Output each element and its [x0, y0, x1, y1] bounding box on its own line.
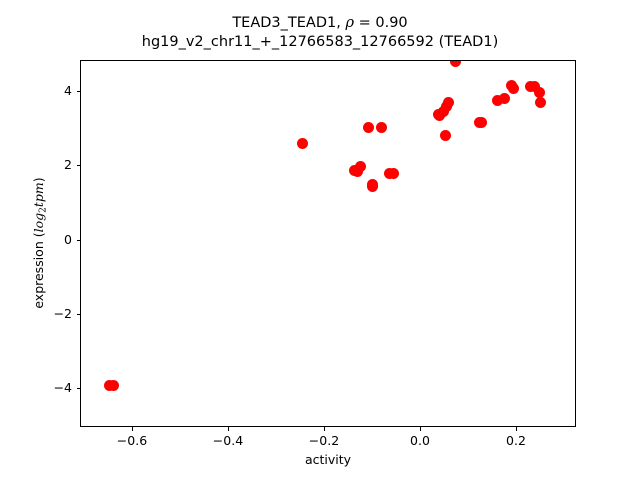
- plot-axes-frame: [80, 60, 576, 427]
- scatter-point: [355, 161, 366, 172]
- scatter-point: [476, 117, 487, 128]
- scatter-plot-area: [81, 61, 575, 426]
- x-tick-label: 0.0: [390, 433, 450, 448]
- x-tick-label: 0.2: [486, 433, 546, 448]
- scatter-point: [499, 93, 510, 104]
- scatter-point: [440, 130, 451, 141]
- figure-canvas: TEAD3_TEAD1, ρ = 0.90 hg19_v2_chr11_+_12…: [0, 0, 640, 480]
- chart-title: TEAD3_TEAD1, ρ = 0.90 hg19_v2_chr11_+_12…: [0, 14, 640, 52]
- rho-symbol: ρ: [345, 15, 354, 31]
- y-tick-mark: [77, 91, 81, 92]
- scatter-point: [108, 380, 119, 391]
- ylabel-math-log: log: [31, 213, 46, 233]
- y-tick-mark: [77, 165, 81, 166]
- scatter-point: [443, 97, 454, 108]
- x-tick-mark: [420, 427, 421, 431]
- ylabel-prefix: expression (: [31, 232, 46, 308]
- scatter-point: [388, 168, 399, 179]
- ylabel-subscript: 2: [38, 207, 48, 213]
- title-prefix: TEAD3_TEAD1,: [232, 15, 345, 31]
- x-tick-label: −0.6: [102, 433, 162, 448]
- y-axis-label: expression (log2tpm): [31, 93, 48, 393]
- title-line-2: hg19_v2_chr11_+_12766583_12766592 (TEAD1…: [0, 33, 640, 52]
- scatter-point: [297, 138, 308, 149]
- x-tick-label: −0.4: [198, 433, 258, 448]
- ylabel-suffix: ): [31, 177, 46, 182]
- x-tick-mark: [132, 427, 133, 431]
- x-tick-mark: [228, 427, 229, 431]
- x-axis-label: activity: [80, 452, 576, 467]
- y-tick-mark: [77, 314, 81, 315]
- scatter-point: [508, 83, 519, 94]
- x-tick-mark: [324, 427, 325, 431]
- ylabel-math-tpm: tpm: [31, 182, 46, 207]
- scatter-point: [535, 97, 546, 108]
- x-tick-mark: [516, 427, 517, 431]
- title-line-1: TEAD3_TEAD1, ρ = 0.90: [0, 14, 640, 33]
- scatter-point: [367, 181, 378, 192]
- scatter-point: [376, 122, 387, 133]
- scatter-point: [363, 122, 374, 133]
- title-suffix: = 0.90: [354, 15, 408, 31]
- x-tick-label: −0.2: [294, 433, 354, 448]
- y-tick-mark: [77, 240, 81, 241]
- y-tick-mark: [77, 388, 81, 389]
- scatter-point: [450, 61, 461, 67]
